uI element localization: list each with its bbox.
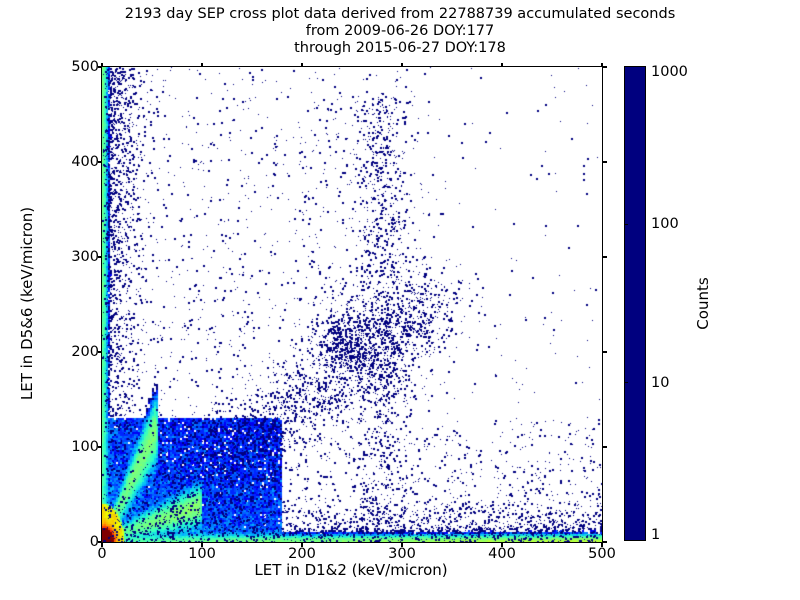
- colorbar-tick-label: 100: [651, 216, 679, 232]
- y-tick-label: 0: [90, 534, 99, 550]
- x-tick-mark: [401, 63, 402, 68]
- title-line-3: through 2015-06-27 DOY:178: [0, 40, 800, 57]
- y-tick-mark: [602, 66, 607, 67]
- colorbar-tick-label: 1: [651, 527, 660, 543]
- colorbar-gradient: [624, 66, 646, 541]
- x-tick-label: 200: [288, 546, 316, 562]
- x-tick-label: 100: [188, 546, 216, 562]
- colorbar-tick-label: 1000: [651, 64, 688, 80]
- chart-title: 2193 day SEP cross plot data derived fro…: [0, 6, 800, 57]
- x-tick-mark: [501, 63, 502, 68]
- y-tick-mark: [602, 541, 607, 542]
- y-tick-label: 200: [71, 344, 99, 360]
- x-tick-label: 400: [488, 546, 516, 562]
- colorbar-tick-mark: [624, 224, 628, 225]
- colorbar-label: Counts: [694, 66, 714, 541]
- y-tick-mark: [602, 446, 607, 447]
- title-line-1: 2193 day SEP cross plot data derived fro…: [0, 6, 800, 23]
- y-tick-mark: [602, 161, 607, 162]
- y-tick-label: 100: [71, 439, 99, 455]
- x-tick-label: 500: [588, 546, 616, 562]
- plot-axes: 01002003004005000100200300400500: [101, 66, 603, 543]
- x-tick-mark: [201, 63, 202, 68]
- x-axis-label: LET in D1&2 (keV/micron): [101, 561, 601, 579]
- y-tick-mark: [602, 351, 607, 352]
- y-tick-mark: [602, 256, 607, 257]
- x-tick-label: 300: [388, 546, 416, 562]
- colorbar: 1101001000: [624, 66, 646, 541]
- y-axis-label: LET in D5&6 (keV/micron): [18, 66, 38, 541]
- y-tick-label: 400: [71, 154, 99, 170]
- figure-canvas: 2193 day SEP cross plot data derived fro…: [0, 0, 800, 600]
- x-tick-mark: [301, 63, 302, 68]
- density-plot: [102, 67, 602, 542]
- colorbar-tick-mark: [624, 382, 628, 383]
- title-line-2: from 2009-06-26 DOY:177: [0, 23, 800, 40]
- y-tick-label: 300: [71, 249, 99, 265]
- y-tick-label: 500: [71, 59, 99, 75]
- colorbar-tick-label: 10: [651, 375, 669, 391]
